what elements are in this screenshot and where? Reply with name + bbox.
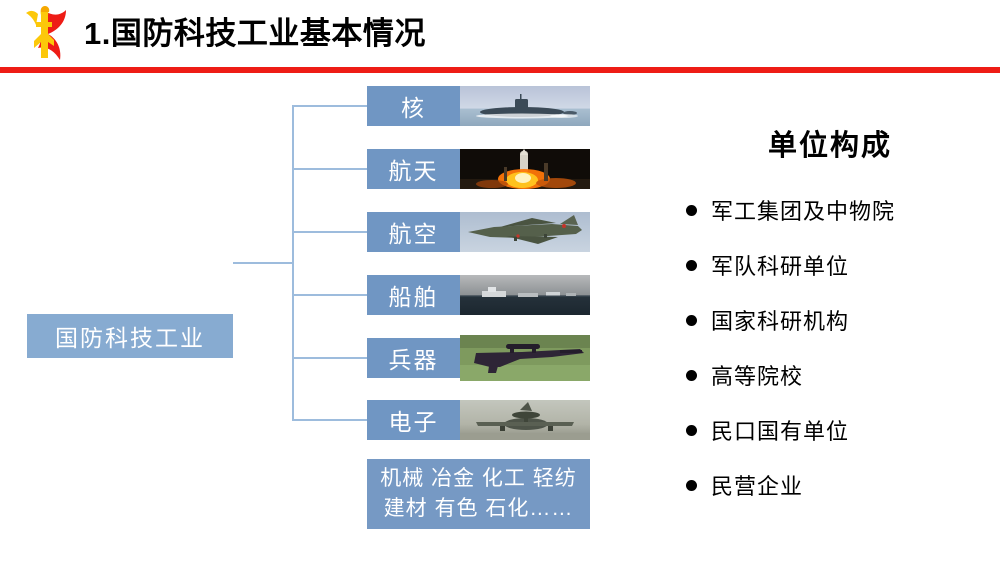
nuclear-submarine-photo	[460, 86, 590, 126]
list-item-label: 军队科研单位	[711, 249, 849, 281]
connector-branch-1	[292, 105, 367, 107]
branch-label: 核	[401, 89, 426, 123]
list-item-label: 国家科研机构	[711, 304, 849, 336]
fighter-jet-photo	[460, 212, 590, 252]
list-item: 国家科研机构	[686, 305, 996, 335]
industries-line-1: 机械 冶金 化工 轻纺	[380, 464, 577, 494]
connector-branch-5	[292, 357, 367, 359]
panel-title: 单位构成	[660, 122, 1000, 164]
connector-branch-6	[292, 419, 367, 421]
awacs-transport-plane-photo	[460, 400, 590, 440]
connector-root-stub	[233, 262, 293, 264]
branch-label: 船舶	[389, 278, 439, 312]
bullet-dot-icon	[686, 370, 697, 381]
branch-label: 兵器	[389, 341, 439, 375]
list-item-label: 军工集团及中物院	[711, 194, 895, 226]
connector-branch-4	[292, 294, 367, 296]
naval-fleet-photo	[460, 275, 590, 315]
bullet-dot-icon	[686, 260, 697, 271]
bullet-dot-icon	[686, 425, 697, 436]
branch-label-box: 船舶	[367, 275, 460, 315]
branch-label-box: 航天	[367, 149, 460, 189]
branch-label-box: 核	[367, 86, 460, 126]
rocket-launch-photo	[460, 149, 590, 189]
header-divider-rule	[0, 67, 1000, 73]
tree-root-label: 国防科技工业	[55, 319, 205, 353]
industries-line-2: 建材 有色 石化……	[384, 494, 574, 524]
branch-label-box: 电子	[367, 400, 460, 440]
list-item: 军队科研单位	[686, 250, 996, 280]
branch-label: 航天	[389, 152, 439, 186]
branch-label: 电子	[389, 403, 439, 437]
list-item-label: 民口国有单位	[711, 414, 849, 446]
connector-branch-3	[292, 231, 367, 233]
branch-label-box: 航空	[367, 212, 460, 252]
page-title: 1.国防科技工业基本情况	[84, 8, 426, 53]
assault-rifle-photo	[460, 335, 590, 381]
list-item: 民营企业	[686, 470, 996, 500]
list-item: 高等院校	[686, 360, 996, 390]
industries-box: 机械 冶金 化工 轻纺 建材 有色 石化……	[367, 459, 590, 529]
list-item-label: 高等院校	[711, 359, 803, 391]
connector-branch-2	[292, 168, 367, 170]
connector-vertical-spine	[292, 105, 294, 421]
list-item: 民口国有单位	[686, 415, 996, 445]
list-item: 军工集团及中物院	[686, 195, 996, 225]
branch-label-box: 兵器	[367, 338, 460, 378]
list-item-label: 民营企业	[711, 469, 803, 501]
slide-header: 1.国防科技工业基本情况	[0, 0, 1000, 74]
bullet-dot-icon	[686, 205, 697, 216]
bullet-dot-icon	[686, 480, 697, 491]
unit-composition-panel: 单位构成 军工集团及中物院 军队科研单位 国家科研机构 高等院校 民口国有单位 …	[660, 74, 1000, 563]
bullet-dot-icon	[686, 315, 697, 326]
tree-root-node: 国防科技工业	[27, 314, 233, 358]
torch-with-red-ribbon-emblem-icon	[14, 4, 76, 66]
org-tree-diagram: 国防科技工业 核	[0, 74, 660, 563]
branch-label: 航空	[389, 215, 439, 249]
